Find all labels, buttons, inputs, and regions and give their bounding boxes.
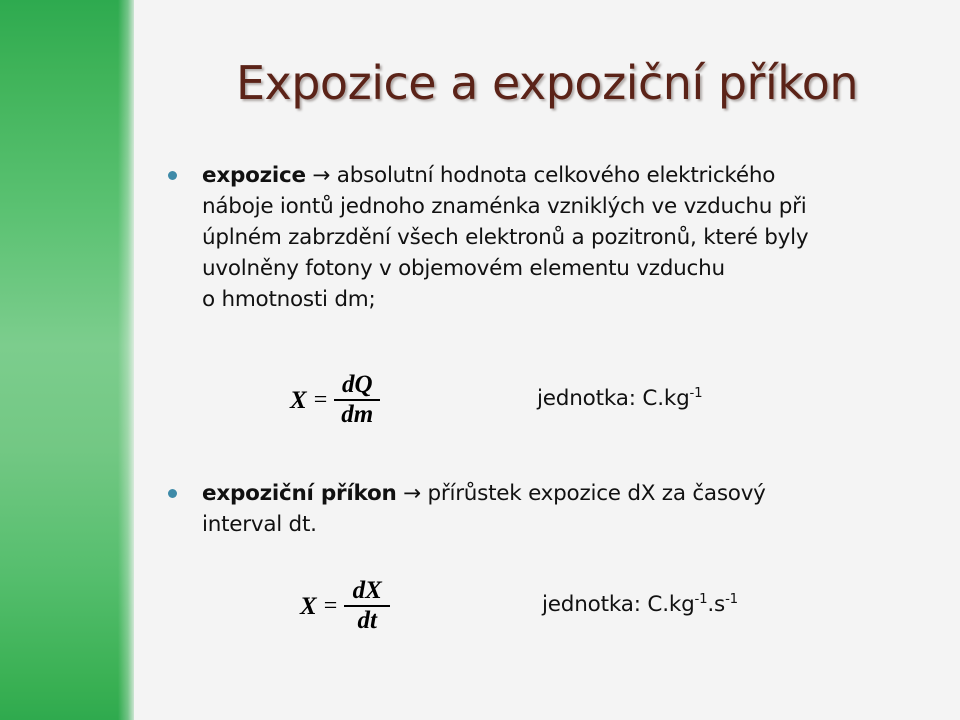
equals-sign: = [324, 594, 338, 618]
bullet-lead-term: expoziční příkon [202, 481, 397, 506]
bullet-marker-icon [168, 489, 177, 498]
list-item: expoziční příkon → přírůstek expozice dX… [168, 478, 898, 540]
equation-expression: X = dQ dm [290, 372, 380, 429]
unit-exponent-2: -1 [725, 592, 738, 607]
fraction-numerator: dX [350, 578, 385, 605]
slide: Expozice a expoziční příkon expozice → a… [0, 0, 960, 720]
equation-lhs: X [290, 388, 307, 413]
equals-sign: = [314, 388, 328, 412]
unit-label-exposure: jednotka: C.kg-1 [537, 386, 702, 411]
fraction-denominator: dt [355, 607, 380, 634]
bullet-marker-icon [168, 171, 177, 180]
arrow-icon: → [306, 163, 337, 188]
list-item: expozice → absolutní hodnota celkového e… [168, 160, 898, 315]
equation-expression: X = dX dt [300, 578, 390, 635]
equation-lhs: X [300, 594, 317, 619]
bullet-text: expozice → absolutní hodnota celkového e… [168, 160, 898, 315]
unit-prefix: jednotka: C.kg [542, 592, 695, 617]
unit-exponent-1: -1 [695, 592, 708, 607]
fraction: dQ dm [334, 372, 380, 429]
arrow-icon: → [397, 481, 428, 506]
fraction-denominator: dm [338, 401, 376, 428]
equation-exposure: X = dQ dm [290, 372, 380, 429]
unit-exponent-1: -1 [690, 386, 703, 401]
bullet-text: expoziční příkon → přírůstek expozice dX… [168, 478, 898, 540]
slide-body: expozice → absolutní hodnota celkového e… [0, 0, 960, 720]
unit-prefix: jednotka: C.kg [537, 386, 690, 411]
fraction-numerator: dQ [339, 372, 376, 399]
fraction: dX dt [344, 578, 390, 635]
bullet-lead-term: expozice [202, 163, 306, 188]
unit-middle: .s [707, 592, 725, 617]
equation-exposure-rate: X = dX dt [300, 578, 390, 635]
unit-label-exposure-rate: jednotka: C.kg-1.s-1 [542, 592, 738, 617]
